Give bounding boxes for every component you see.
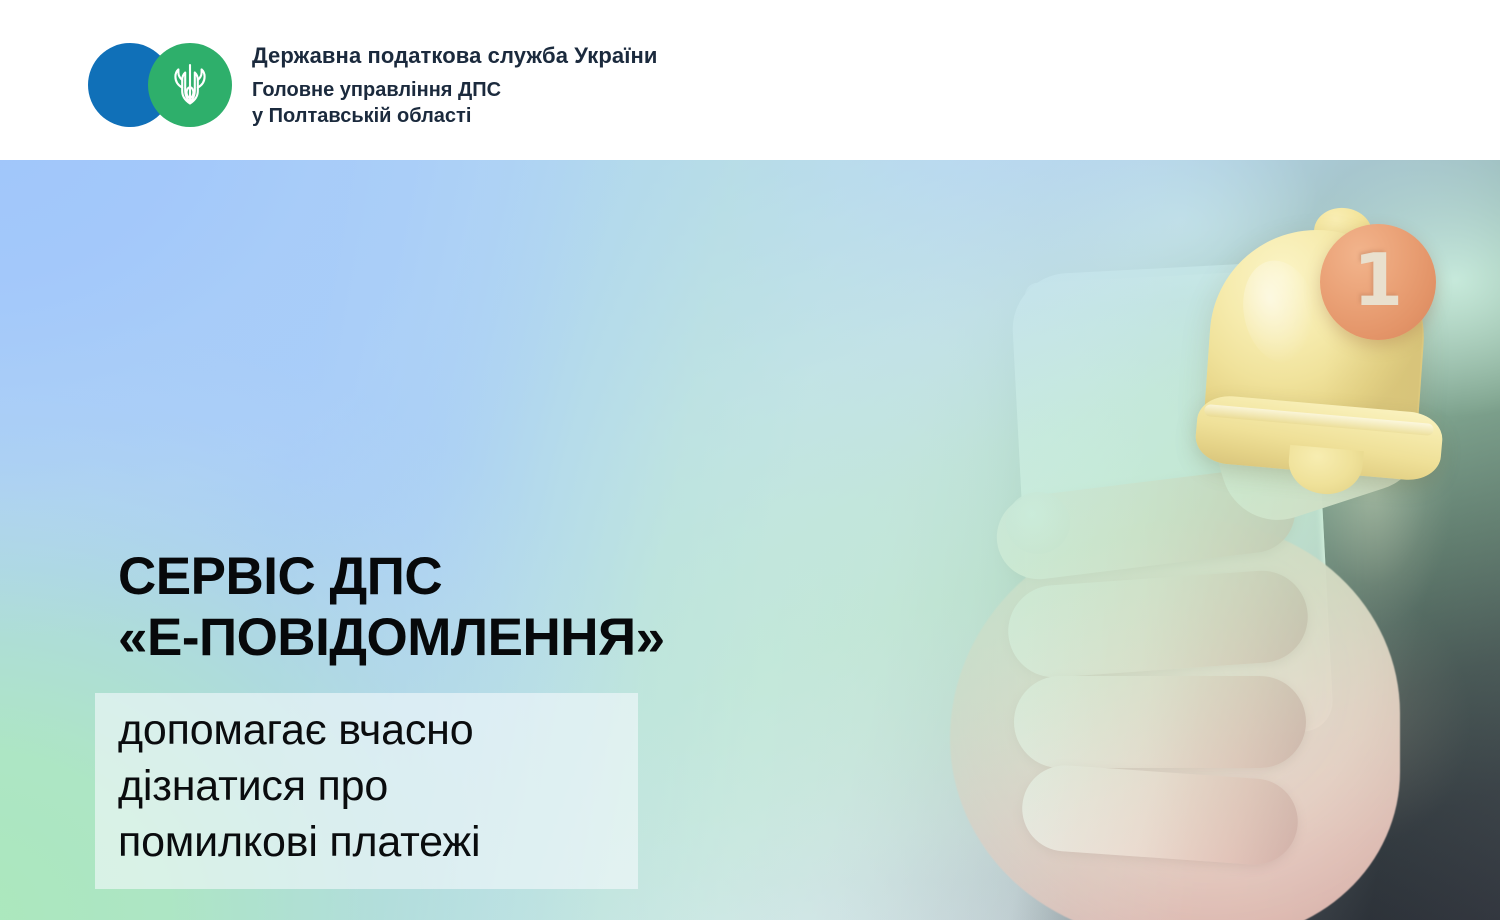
organization-name-region: у Полтавській області xyxy=(252,103,658,129)
bell-clapper xyxy=(1286,445,1364,497)
hero-subheadline: допомагає вчасно дізнатися про помилкові… xyxy=(118,703,480,871)
ukraine-trident-icon xyxy=(173,62,207,108)
site-header: Державна податкова служба України Головн… xyxy=(0,0,1500,160)
notification-count-badge: 1 xyxy=(1320,224,1436,340)
logo-green-circle-icon xyxy=(148,43,232,127)
organization-logo[interactable]: Державна податкова служба України Головн… xyxy=(88,40,658,130)
notification-count-value: 1 xyxy=(1353,244,1403,316)
hero-headline: СЕРВІС ДПС «Е-ПОВІДОМЛЕННЯ» xyxy=(118,546,665,669)
organization-name-secondary: Головне управління ДПС xyxy=(252,77,658,103)
hero-section: 1 СЕРВІС ДПС «Е-ПОВІДОМЛЕННЯ» допомагає … xyxy=(0,160,1500,920)
notification-bell-icon: 1 xyxy=(1196,208,1446,498)
organization-name-primary: Державна податкова служба України xyxy=(252,42,658,70)
promo-banner: Державна податкова служба України Головн… xyxy=(0,0,1500,920)
logo-marks xyxy=(88,40,224,130)
organization-name-block: Державна податкова служба України Головн… xyxy=(252,40,658,129)
